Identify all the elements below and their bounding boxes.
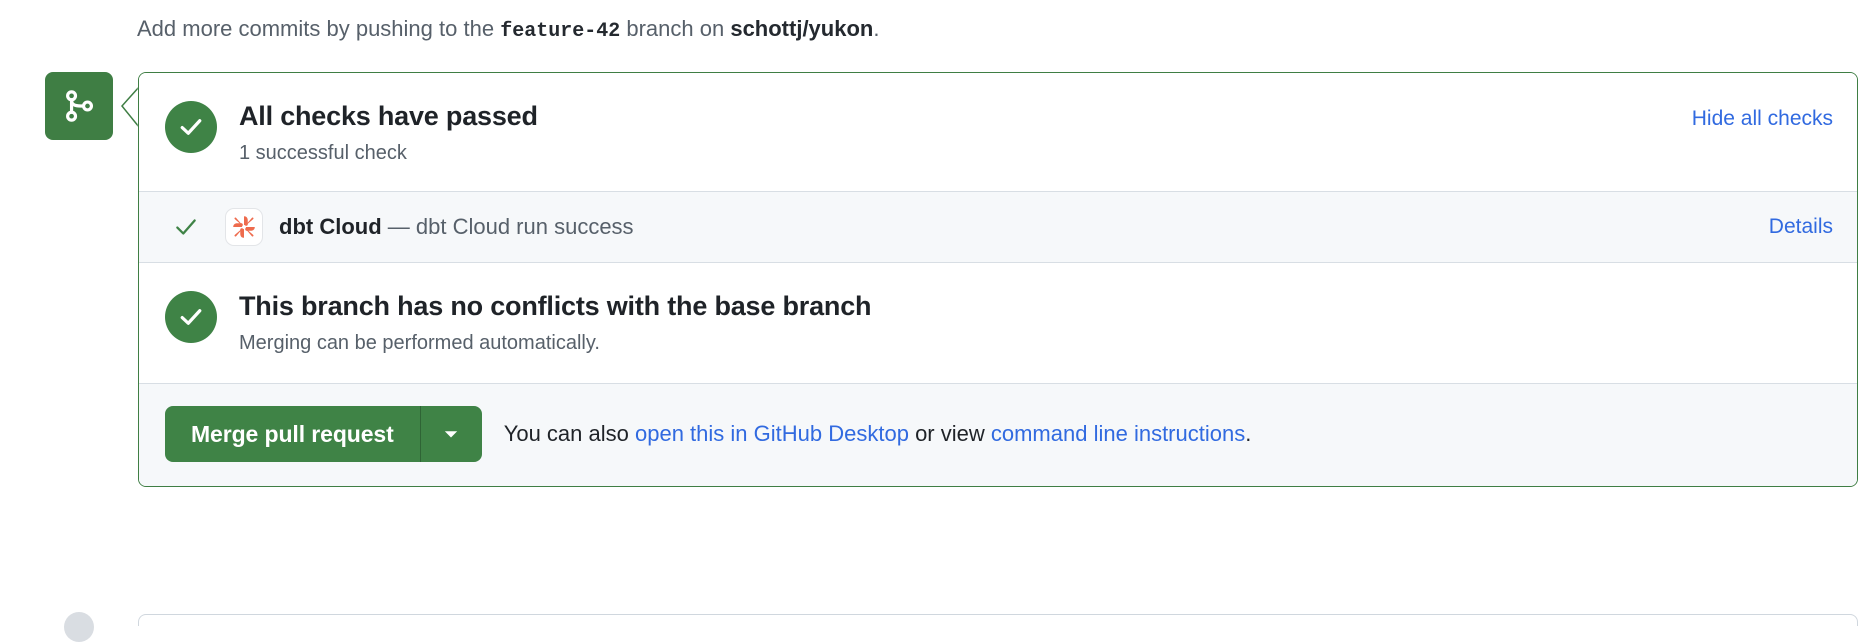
checks-summary-text: All checks have passed 1 successful chec…	[239, 99, 1692, 167]
check-separator: —	[388, 214, 410, 239]
hide-all-checks-link[interactable]: Hide all checks	[1692, 107, 1833, 131]
merge-pull-request-button[interactable]: Merge pull request	[165, 406, 420, 462]
push-more-commits-notice: Add more commits by pushing to the featu…	[137, 14, 879, 47]
branch-name: feature-42	[500, 20, 620, 43]
check-description: dbt Cloud run success	[416, 214, 634, 239]
avatar	[64, 612, 94, 642]
next-timeline-item	[138, 614, 1858, 626]
merge-footer-note: You can also open this in GitHub Desktop…	[504, 419, 1252, 449]
check-app-name: dbt Cloud	[279, 214, 382, 239]
checks-title: All checks have passed	[239, 99, 1692, 133]
open-in-github-desktop-link[interactable]: open this in GitHub Desktop	[635, 421, 909, 446]
chevron-down-icon	[440, 423, 462, 445]
box-connector	[116, 86, 140, 130]
push-notice-middle: branch on	[626, 16, 724, 41]
checks-summary-section: All checks have passed 1 successful chec…	[139, 73, 1857, 191]
check-circle-icon	[165, 291, 217, 343]
checks-subtitle: 1 successful check	[239, 139, 1692, 167]
git-merge-icon	[62, 89, 96, 123]
conflicts-text: This branch has no conflicts with the ba…	[239, 289, 1833, 357]
merge-button-group: Merge pull request	[165, 406, 482, 462]
merge-options-dropdown-button[interactable]	[420, 406, 482, 462]
git-merge-badge	[45, 72, 113, 140]
check-circle-icon	[165, 101, 217, 153]
merge-status-box: All checks have passed 1 successful chec…	[138, 72, 1858, 487]
check-row-label: dbt Cloud — dbt Cloud run success	[279, 212, 1769, 242]
footer-note-prefix: You can also	[504, 421, 629, 446]
push-notice-suffix: .	[873, 16, 879, 41]
check-details-link[interactable]: Details	[1769, 215, 1833, 239]
command-line-instructions-link[interactable]: command line instructions	[991, 421, 1245, 446]
footer-note-suffix: .	[1245, 421, 1251, 446]
conflicts-title: This branch has no conflicts with the ba…	[239, 289, 1833, 323]
conflicts-section: This branch has no conflicts with the ba…	[139, 263, 1857, 384]
repository-name: schottj/yukon	[730, 16, 873, 41]
conflicts-subtitle: Merging can be performed automatically.	[239, 329, 1833, 357]
dbt-cloud-icon	[225, 208, 263, 246]
check-row[interactable]: dbt Cloud — dbt Cloud run success Detail…	[139, 191, 1857, 263]
footer-note-middle: or view	[915, 421, 985, 446]
push-notice-prefix: Add more commits by pushing to the	[137, 16, 494, 41]
check-icon	[173, 214, 207, 240]
merge-action-footer: Merge pull request You can also open thi…	[139, 384, 1857, 486]
